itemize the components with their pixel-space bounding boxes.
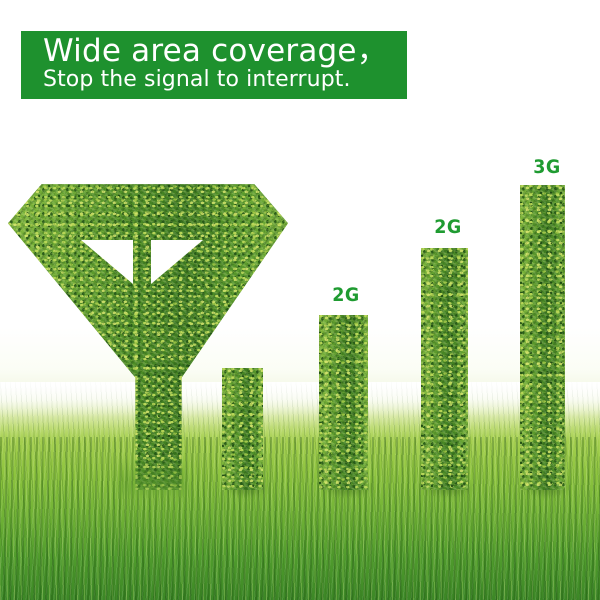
bar-label-2g-second: 2G <box>434 218 461 237</box>
bar-1 <box>222 368 263 490</box>
bar-label-2g-first: 2G <box>332 286 359 305</box>
bar-3 <box>421 248 468 490</box>
banner-subline: Stop the signal to interrupt. <box>43 66 351 94</box>
bar-4-hedge <box>520 185 565 490</box>
poster-canvas: 2G 2G 3G Wide area coverage， Stop the si… <box>0 0 600 600</box>
bar-label-3g: 3G <box>533 158 560 177</box>
headline-banner: Wide area coverage， Stop the signal to i… <box>21 31 407 99</box>
bar-2 <box>319 315 368 490</box>
banner-headline: Wide area coverage， <box>43 32 388 70</box>
bar-1-hedge <box>222 368 263 490</box>
bar-2-hedge <box>319 315 368 490</box>
tower-base-shadow <box>118 456 188 496</box>
bar-4 <box>520 185 565 490</box>
bar-3-hedge <box>421 248 468 490</box>
